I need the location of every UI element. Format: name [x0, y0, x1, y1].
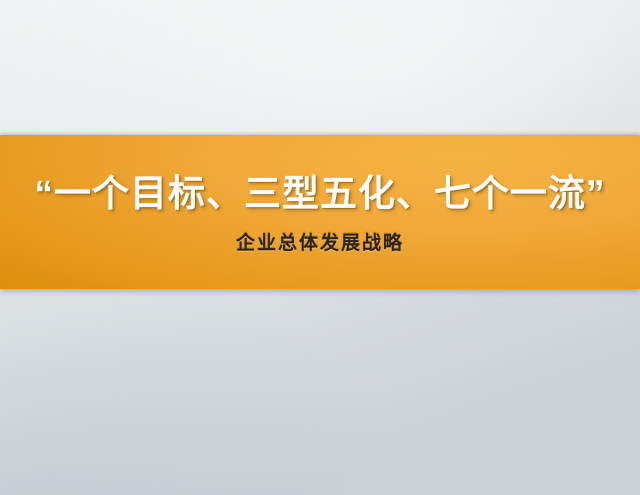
- banner-title: “一个目标、三型五化、七个一流”: [35, 169, 606, 214]
- title-banner: “一个目标、三型五化、七个一流” 企业总体发展战略: [0, 135, 640, 289]
- banner-subtitle: 企业总体发展战略: [236, 228, 404, 255]
- slide-canvas: “一个目标、三型五化、七个一流” 企业总体发展战略: [0, 0, 640, 495]
